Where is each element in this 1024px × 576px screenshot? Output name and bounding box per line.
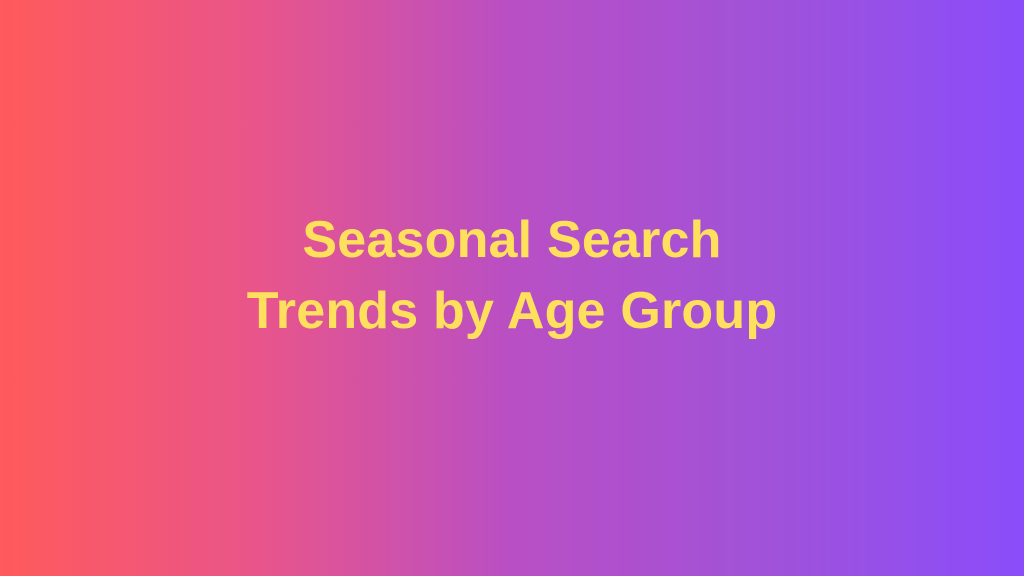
title-slide: Seasonal Search Trends by Age Group xyxy=(0,0,1024,576)
slide-title: Seasonal Search Trends by Age Group xyxy=(56,205,968,347)
title-block: Seasonal Search Trends by Age Group xyxy=(0,205,1024,347)
